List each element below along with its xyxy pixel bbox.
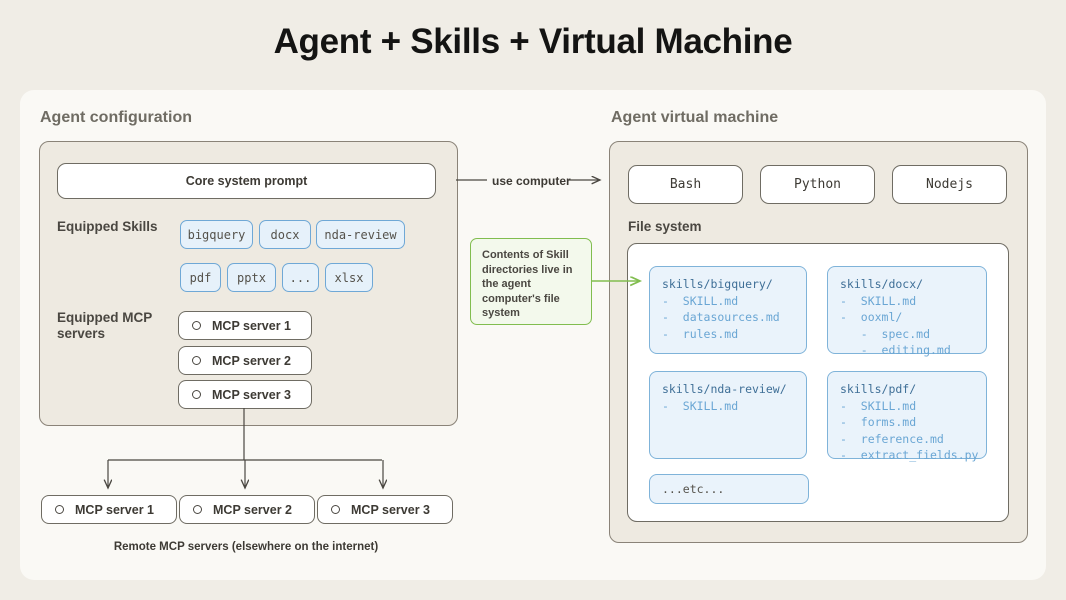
etc-box: ...etc... [649, 474, 809, 504]
circle-icon [192, 356, 201, 365]
mcp-server-row-1[interactable]: MCP server 1 [178, 311, 312, 340]
skill-dir-name: skills/bigquery/ [662, 276, 794, 293]
circle-icon [331, 505, 340, 514]
diagram-canvas: Agent + Skills + Virtual Machine Agent c… [0, 0, 1066, 600]
skill-dir-file: - SKILL.md [840, 398, 974, 415]
skill-dir-file: - ooxml/ [840, 309, 974, 326]
skill-dir-name: skills/nda-review/ [662, 381, 794, 398]
skill-chip-more[interactable]: ... [282, 263, 319, 292]
remote-mcp-label: MCP server 2 [213, 503, 292, 517]
runtime-python[interactable]: Python [760, 165, 875, 204]
file-system-label: File system [628, 219, 702, 235]
skill-dir-file: - forms.md [840, 414, 974, 431]
skill-dir-file: - editing.md [840, 342, 974, 359]
skill-dir-file: - datasources.md [662, 309, 794, 326]
skill-dir-card-bigquery: skills/bigquery/ - SKILL.md - datasource… [649, 266, 807, 354]
skill-dir-file: - reference.md [840, 431, 974, 448]
use-computer-label: use computer [492, 174, 571, 188]
skills-callout-box: Contents of Skill directories live in th… [470, 238, 592, 325]
skill-chip-pptx[interactable]: pptx [227, 263, 276, 292]
mcp-server-row-3[interactable]: MCP server 3 [178, 380, 312, 409]
skill-dir-card-pdf: skills/pdf/ - SKILL.md - forms.md - refe… [827, 371, 987, 459]
skill-dir-file: - extract_fields.py [840, 447, 974, 464]
circle-icon [192, 390, 201, 399]
skill-dir-name: skills/docx/ [840, 276, 974, 293]
core-system-prompt-box[interactable]: Core system prompt [57, 163, 436, 199]
runtime-bash[interactable]: Bash [628, 165, 743, 204]
equipped-mcp-servers-label: Equipped MCP servers [57, 310, 162, 342]
skill-chip-bigquery[interactable]: bigquery [180, 220, 253, 249]
skill-chip-xlsx[interactable]: xlsx [325, 263, 373, 292]
skill-chip-docx[interactable]: docx [259, 220, 311, 249]
equipped-skills-label: Equipped Skills [57, 219, 177, 235]
right-panel-heading: Agent virtual machine [611, 109, 778, 127]
skill-dir-file: - SKILL.md [662, 398, 794, 415]
circle-icon [193, 505, 202, 514]
skill-dir-file: - rules.md [662, 326, 794, 343]
skill-dir-file: - SKILL.md [840, 293, 974, 310]
skill-chip-pdf[interactable]: pdf [180, 263, 221, 292]
mcp-server-row-2[interactable]: MCP server 2 [178, 346, 312, 375]
circle-icon [55, 505, 64, 514]
remote-mcp-label: MCP server 1 [75, 503, 154, 517]
skill-dir-card-nda-review: skills/nda-review/ - SKILL.md [649, 371, 807, 459]
left-panel-heading: Agent configuration [40, 109, 192, 127]
skill-dir-card-docx: skills/docx/ - SKILL.md - ooxml/ - spec.… [827, 266, 987, 354]
remote-mcp-label: MCP server 3 [351, 503, 430, 517]
remote-mcp-server-2[interactable]: MCP server 2 [179, 495, 315, 524]
mcp-server-label: MCP server 1 [212, 319, 291, 333]
mcp-server-label: MCP server 3 [212, 388, 291, 402]
page-title: Agent + Skills + Virtual Machine [0, 22, 1066, 62]
skill-dir-file: - spec.md [840, 326, 974, 343]
remote-mcp-server-1[interactable]: MCP server 1 [41, 495, 177, 524]
circle-icon [192, 321, 201, 330]
skill-chip-nda-review[interactable]: nda-review [316, 220, 405, 249]
runtime-nodejs[interactable]: Nodejs [892, 165, 1007, 204]
skill-dir-file: - SKILL.md [662, 293, 794, 310]
skill-dir-name: skills/pdf/ [840, 381, 974, 398]
remote-mcp-server-3[interactable]: MCP server 3 [317, 495, 453, 524]
mcp-server-label: MCP server 2 [212, 354, 291, 368]
remote-mcp-caption: Remote MCP servers (elsewhere on the int… [41, 541, 451, 553]
